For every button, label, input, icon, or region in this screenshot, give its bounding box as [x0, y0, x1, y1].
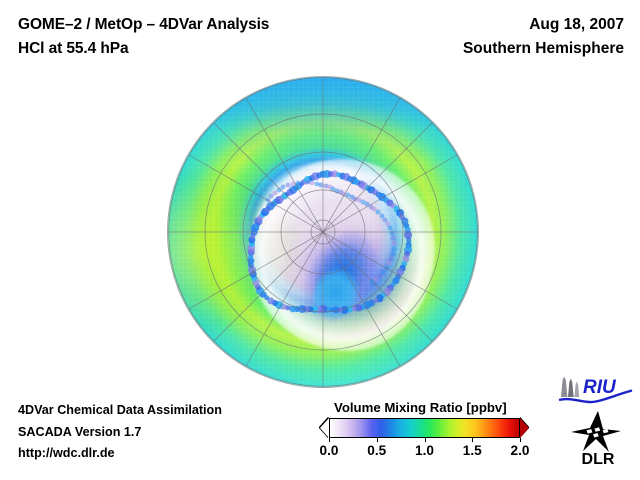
colorbar-tick-label: 2.0 [511, 443, 530, 458]
colorbar-tick-label: 1.5 [463, 443, 482, 458]
dlr-pinwheel-icon [571, 411, 621, 452]
colorbar-cap-low [320, 418, 329, 438]
colorbar-tick [472, 438, 473, 442]
colorbar-tick [377, 438, 378, 442]
colorbar-tick-label: 0.5 [367, 443, 386, 458]
riu-logo: RIU [556, 371, 634, 405]
title-region: Southern Hemisphere [463, 40, 624, 58]
riu-towers-icon [561, 377, 579, 398]
colorbar-tick-label: 1.0 [415, 443, 434, 458]
colorbar-tick [425, 438, 426, 442]
graticule [168, 77, 478, 387]
title-date: Aug 18, 2007 [529, 16, 624, 34]
globe-map [168, 77, 478, 387]
title-instrument: GOME–2 / MetOp – 4DVar Analysis [18, 16, 269, 34]
colorbar [320, 418, 529, 438]
footer-line-3[interactable]: http://wdc.dlr.de [18, 443, 222, 465]
riu-wordmark: RIU [583, 377, 617, 398]
dlr-logo: DLR [563, 409, 633, 467]
figure-canvas: GOME–2 / MetOp – 4DVar Analysis HCl at 5… [0, 0, 640, 480]
globe-disc [168, 77, 478, 387]
footer-text: 4DVar Chemical Data Assimilation SACADA … [18, 400, 222, 465]
footer-line-1: 4DVar Chemical Data Assimilation [18, 400, 222, 422]
colorbar-cap-high [520, 418, 529, 438]
colorbar-tick-label: 0.0 [320, 443, 339, 458]
dlr-wordmark: DLR [582, 451, 615, 467]
colorbar-title: Volume Mixing Ratio [ppbv] [334, 400, 507, 415]
colorbar-gradient [329, 418, 520, 438]
footer-line-2: SACADA Version 1.7 [18, 422, 222, 444]
colorbar-tick [520, 438, 521, 442]
colorbar-tick-labels: 0.00.51.01.52.0 [300, 443, 550, 463]
colorbar-tick [329, 438, 330, 442]
title-species: HCl at 55.4 hPa [18, 40, 129, 58]
